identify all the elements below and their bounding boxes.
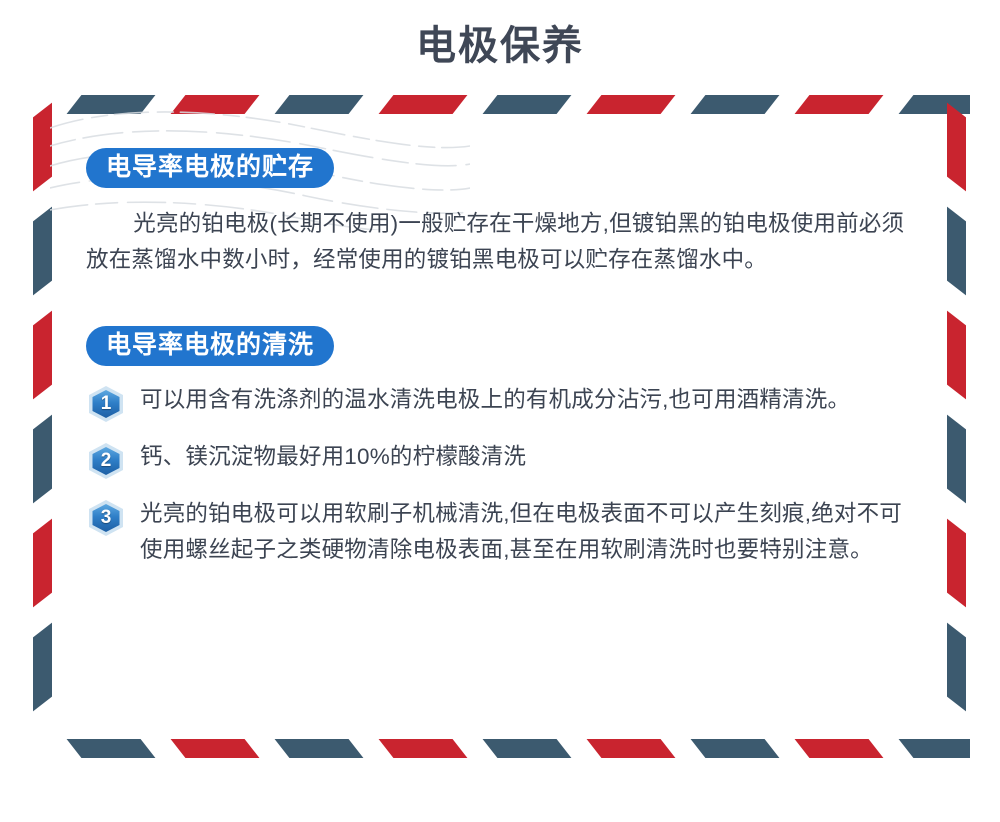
section-heading-cleaning: 电导率电极的清洗 bbox=[86, 326, 334, 366]
frame-dash bbox=[33, 207, 52, 296]
frame-dash bbox=[691, 739, 780, 758]
content-area: 电导率电极的贮存 光亮的铂电极(长期不使用)一般贮存在干燥地方,但镀铂黑的铂电极… bbox=[86, 148, 924, 584]
frame-dash bbox=[171, 95, 260, 114]
cleaning-steps-list: 1 可以用含有洗涤剂的温水清洗电极上的有机成分沾污,也可用酒精清洗。 bbox=[86, 382, 924, 568]
step-number-badge-icon: 2 bbox=[86, 442, 126, 480]
frame-dash bbox=[947, 103, 966, 192]
list-item: 1 可以用含有洗涤剂的温水清洗电极上的有机成分沾污,也可用酒精清洗。 bbox=[86, 382, 924, 423]
step-text: 光亮的铂电极可以用软刷子机械清洗,但在电极表面不可以产生刻痕,绝对不可使用螺丝起… bbox=[140, 496, 910, 568]
step-number-badge-icon: 3 bbox=[86, 499, 126, 537]
frame-dash bbox=[947, 623, 966, 712]
frame-dash bbox=[275, 739, 364, 758]
frame-dash bbox=[67, 739, 156, 758]
frame-dash bbox=[947, 519, 966, 608]
step-text: 可以用含有洗涤剂的温水清洗电极上的有机成分沾污,也可用酒精清洗。 bbox=[140, 382, 910, 418]
section-storage: 电导率电极的贮存 光亮的铂电极(长期不使用)一般贮存在干燥地方,但镀铂黑的铂电极… bbox=[86, 148, 924, 278]
step-number: 2 bbox=[86, 442, 126, 480]
section-cleaning: 电导率电极的清洗 bbox=[86, 326, 924, 568]
frame-dash bbox=[171, 739, 260, 758]
frame-edge-right bbox=[944, 92, 970, 762]
frame-dash bbox=[947, 207, 966, 296]
section-heading-storage: 电导率电极的贮存 bbox=[86, 148, 334, 188]
frame-dash bbox=[483, 739, 572, 758]
envelope-frame: 电导率电极的贮存 光亮的铂电极(长期不使用)一般贮存在干燥地方,但镀铂黑的铂电极… bbox=[30, 92, 970, 762]
frame-edge-bottom bbox=[30, 736, 970, 762]
frame-dash bbox=[691, 95, 780, 114]
frame-dash bbox=[67, 95, 156, 114]
frame-edge-top bbox=[30, 92, 970, 118]
step-number: 3 bbox=[86, 499, 126, 537]
frame-dash bbox=[587, 95, 676, 114]
frame-dash bbox=[795, 739, 884, 758]
frame-dash bbox=[33, 415, 52, 504]
step-number-badge-icon: 1 bbox=[86, 385, 126, 423]
frame-dash bbox=[947, 311, 966, 400]
list-item: 3 光亮的铂电极可以用软刷子机械清洗,但在电极表面不可以产生刻痕,绝对不可使用螺… bbox=[86, 496, 924, 568]
step-number: 1 bbox=[86, 385, 126, 423]
page-title: 电极保养 bbox=[0, 0, 1000, 62]
frame-dash bbox=[483, 95, 572, 114]
frame-dash bbox=[379, 95, 468, 114]
list-item: 2 钙、镁沉淀物最好用10%的柠檬酸清洗 bbox=[86, 439, 924, 480]
frame-dash bbox=[275, 95, 364, 114]
frame-dash bbox=[33, 311, 52, 400]
frame-dash bbox=[379, 739, 468, 758]
frame-dash bbox=[33, 623, 52, 712]
section-spacer bbox=[86, 284, 924, 326]
storage-paragraph: 光亮的铂电极(长期不使用)一般贮存在干燥地方,但镀铂黑的铂电极使用前必须放在蒸馏… bbox=[86, 206, 906, 278]
frame-dash bbox=[947, 415, 966, 504]
frame-dash bbox=[33, 519, 52, 608]
frame-dash bbox=[33, 103, 52, 192]
frame-dash bbox=[795, 95, 884, 114]
step-text: 钙、镁沉淀物最好用10%的柠檬酸清洗 bbox=[140, 439, 910, 475]
frame-dash bbox=[587, 739, 676, 758]
frame-edge-left bbox=[30, 92, 56, 762]
